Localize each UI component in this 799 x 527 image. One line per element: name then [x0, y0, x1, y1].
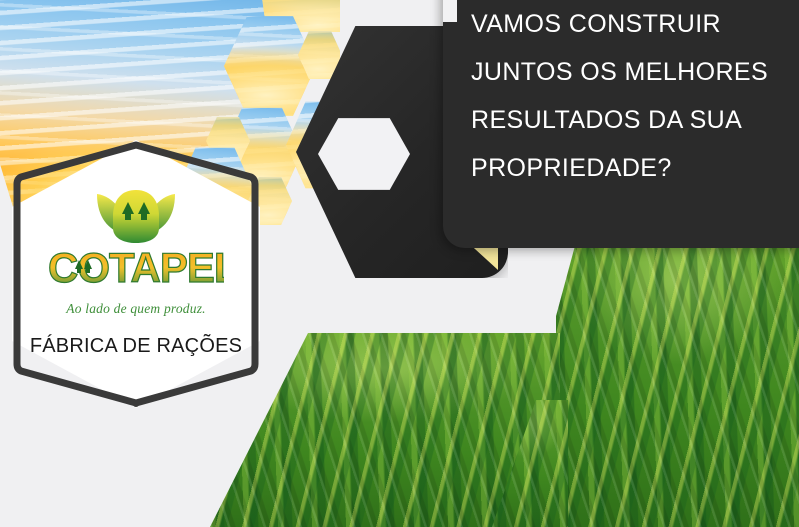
svg-text:COTAPEL: COTAPEL	[48, 246, 224, 291]
headline-text: VAMOS CONSTRUIR JUNTOS OS MELHORES RESUL…	[471, 0, 799, 192]
promo-poster: VAMOS CONSTRUIR JUNTOS OS MELHORES RESUL…	[0, 0, 799, 527]
headline-line-2: JUNTOS OS MELHORES	[471, 48, 799, 96]
brand-subtitle: FÁBRICA DE RAÇÕES	[30, 335, 242, 358]
headline-line-1: VAMOS CONSTRUIR	[471, 0, 799, 48]
tulip-with-trees-emblem	[95, 188, 177, 244]
headline-panel-notch	[443, 0, 457, 22]
headline-line-4: PROPRIEDADE?	[471, 144, 799, 192]
brand-tagline: Ao lado de quem produz.	[66, 301, 205, 317]
brand-wordmark: COTAPEL	[48, 246, 224, 299]
corn-field-photo-right	[556, 226, 799, 527]
logo-content: COTAPEL Ao lado de quem produz. FÁBRICA …	[12, 140, 260, 408]
headline-line-3: RESULTADOS DA SUA	[471, 96, 799, 144]
